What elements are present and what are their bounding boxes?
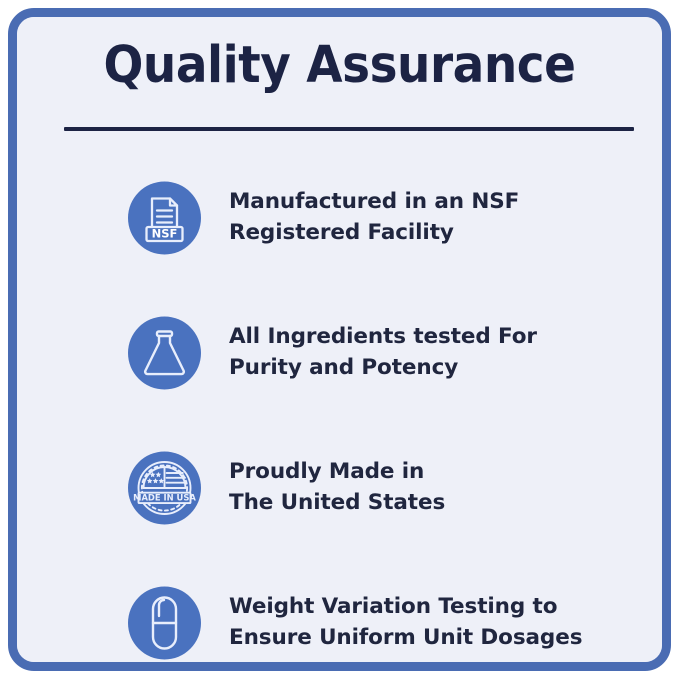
title-divider [64, 127, 634, 131]
list-item-text: Manufactured in an NSF Registered Facili… [229, 186, 632, 250]
list-item-line2: Ensure Uniform Unit Dosages [229, 623, 632, 655]
capsule-pill-icon [128, 586, 201, 659]
list-item-line1: Weight Variation Testing to [229, 591, 632, 623]
list-item-line2: The United States [229, 488, 632, 520]
svg-text:NSF: NSF [152, 226, 178, 240]
list-item-text: Proudly Made in The United States [229, 456, 632, 520]
icon-circle: MADE IN USA [128, 451, 201, 524]
feature-list: NSF Manufactured in an NSF Registered Fa… [17, 150, 662, 671]
quality-assurance-card: Quality Assurance [8, 8, 671, 671]
list-item-line2: Registered Facility [229, 218, 632, 250]
list-item-text: All Ingredients tested For Purity and Po… [229, 321, 632, 385]
card-body: Quality Assurance [17, 17, 662, 662]
svg-text:MADE IN USA: MADE IN USA [133, 492, 196, 502]
list-item: All Ingredients tested For Purity and Po… [17, 285, 662, 420]
page-title: Quality Assurance [43, 37, 636, 96]
list-item: NSF Manufactured in an NSF Registered Fa… [17, 150, 662, 285]
icon-circle: NSF [128, 181, 201, 254]
list-item-line1: Manufactured in an NSF [229, 186, 632, 218]
list-item-line1: Proudly Made in [229, 456, 632, 488]
list-item: Weight Variation Testing to Ensure Unifo… [17, 555, 662, 671]
erlenmeyer-flask-icon [128, 316, 201, 389]
icon-circle [128, 586, 201, 659]
nsf-certificate-icon: NSF [128, 181, 201, 254]
made-in-usa-seal-icon: MADE IN USA [128, 451, 201, 524]
list-item-line1: All Ingredients tested For [229, 321, 632, 353]
icon-circle [128, 316, 201, 389]
list-item: MADE IN USA Proudly Made in The United S… [17, 420, 662, 555]
list-item-text: Weight Variation Testing to Ensure Unifo… [229, 591, 632, 655]
list-item-line2: Purity and Potency [229, 353, 632, 385]
